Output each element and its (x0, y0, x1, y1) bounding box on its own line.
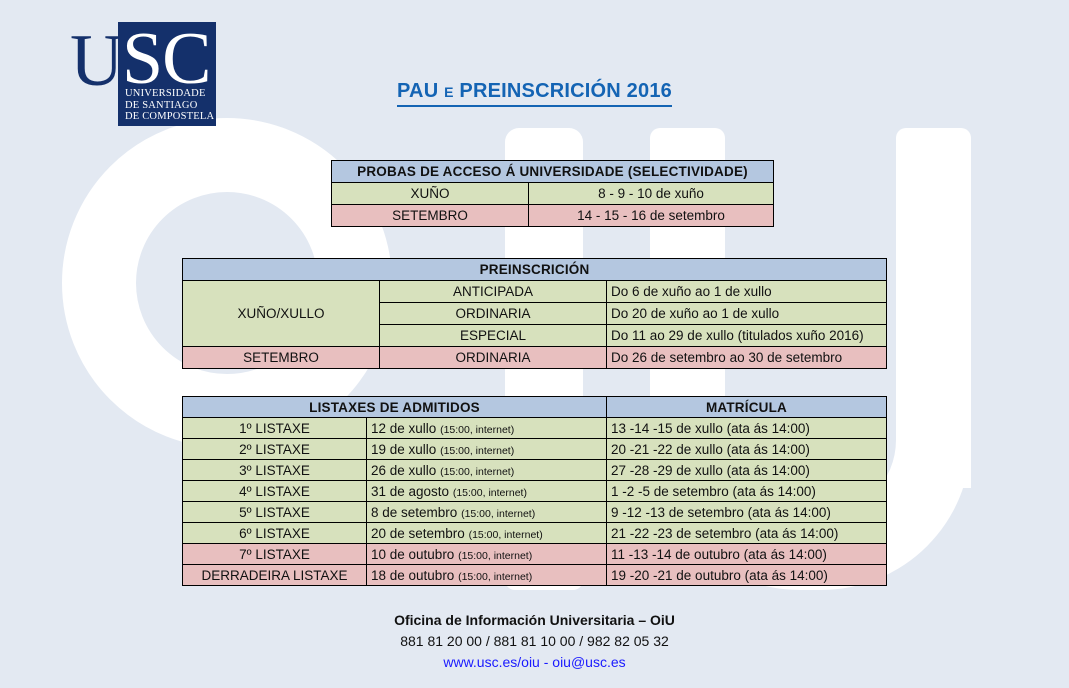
table3-row-6-note: (15:00, internet) (458, 550, 532, 562)
table3-row-6-date-cell: 10 de outubro (15:00, internet) (367, 544, 607, 565)
table3-row-6-date: 10 de outubro (371, 547, 454, 562)
table3-row-7-date-cell: 18 de outubro (15:00, internet) (367, 565, 607, 586)
table2-row-1-type: ORDINARIA (380, 303, 607, 325)
table3-row-2-name: 3º LISTAXE (183, 460, 367, 481)
table3-row-6-matricula: 11 -13 -14 de outubro (ata ás 14:00) (607, 544, 887, 565)
table1-row-1-label: SETEMBRO (332, 205, 529, 227)
table3-row-1-date: 19 de xullo (371, 442, 436, 457)
table3-row-2-matricula: 27 -28 -29 de xullo (ata ás 14:00) (607, 460, 887, 481)
table3-row-4-note: (15:00, internet) (461, 508, 535, 520)
page-title: PAU E PREINSCRICIÓN 2016 (0, 80, 1069, 103)
table1-row-0-value: 8 - 9 - 10 de xuño (529, 183, 774, 205)
footer-phone-numbers: 881 81 20 00 / 881 81 10 00 / 982 82 05 … (0, 633, 1069, 649)
table3-row-3-date: 31 de agosto (371, 484, 449, 499)
table3-row-0-matricula: 13 -14 -15 de xullo (ata ás 14:00) (607, 418, 887, 439)
table-listaxes-matricula: LISTAXES DE ADMITIDOS MATRÍCULA 1º LISTA… (182, 396, 887, 586)
table3-row-0-date: 12 de xullo (371, 421, 436, 436)
table-row: SETEMBRO 14 - 15 - 16 de setembro (332, 205, 774, 227)
table2-group-setembro: SETEMBRO (183, 347, 380, 369)
table2-row-1-dates: Do 20 de xuño ao 1 de xullo (607, 303, 887, 325)
page-title-pau: PAU (397, 80, 438, 107)
table3-header-matricula: MATRÍCULA (607, 397, 887, 418)
table-row: DERRADEIRA LISTAXE 18 de outubro (15:00,… (183, 565, 887, 586)
table3-row-0-name: 1º LISTAXE (183, 418, 367, 439)
usc-logo: U SC UNIVERSIDADE DE SANTIAGO DE COMPOST… (70, 22, 216, 126)
table-row: 1º LISTAXE 12 de xullo (15:00, internet)… (183, 418, 887, 439)
logo-subtitle-line-3: DE COMPOSTELA (125, 111, 214, 123)
page-title-conjunction: E (444, 84, 454, 100)
table3-row-2-date-cell: 26 de xullo (15:00, internet) (367, 460, 607, 481)
table2-header: PREINSCRICIÓN (183, 259, 887, 281)
table-row: XUÑO/XULLO ANTICIPADA Do 6 de xuño ao 1 … (183, 281, 887, 303)
table3-row-3-date-cell: 31 de agosto (15:00, internet) (367, 481, 607, 502)
table2-row-0-dates: Do 6 de xuño ao 1 de xullo (607, 281, 887, 303)
table3-row-7-note: (15:00, internet) (458, 571, 532, 583)
table2-row-2-type: ESPECIAL (380, 325, 607, 347)
table3-row-3-name: 4º LISTAXE (183, 481, 367, 502)
table2-row-3-type: ORDINARIA (380, 347, 607, 369)
table3-row-1-matricula: 20 -21 -22 de xullo (ata ás 14:00) (607, 439, 887, 460)
table3-row-2-date: 26 de xullo (371, 463, 436, 478)
table3-row-2-note: (15:00, internet) (440, 466, 514, 478)
table2-row-0-type: ANTICIPADA (380, 281, 607, 303)
table3-row-4-matricula: 9 -12 -13 de setembro (ata ás 14:00) (607, 502, 887, 523)
table3-row-5-date-cell: 20 de setembro (15:00, internet) (367, 523, 607, 544)
page-title-rest: PREINSCRICIÓN 2016 (459, 80, 672, 107)
table-probas-de-acceso: PROBAS DE ACCESO Á UNIVERSIDADE (SELECTI… (331, 160, 774, 227)
table3-row-0-date-cell: 12 de xullo (15:00, internet) (367, 418, 607, 439)
table-row-header: LISTAXES DE ADMITIDOS MATRÍCULA (183, 397, 887, 418)
table3-row-7-matricula: 19 -20 -21 de outubro (ata ás 14:00) (607, 565, 887, 586)
table-row: XUÑO 8 - 9 - 10 de xuño (332, 183, 774, 205)
table-row: 6º LISTAXE 20 de setembro (15:00, intern… (183, 523, 887, 544)
table-row: 3º LISTAXE 26 de xullo (15:00, internet)… (183, 460, 887, 481)
table-row-header: PREINSCRICIÓN (183, 259, 887, 281)
table-row: 5º LISTAXE 8 de setembro (15:00, interne… (183, 502, 887, 523)
table1-header: PROBAS DE ACCESO Á UNIVERSIDADE (SELECTI… (332, 161, 774, 183)
table3-row-4-name: 5º LISTAXE (183, 502, 367, 523)
table-row: 2º LISTAXE 19 de xullo (15:00, internet)… (183, 439, 887, 460)
table3-row-1-note: (15:00, internet) (440, 445, 514, 457)
table1-row-1-value: 14 - 15 - 16 de setembro (529, 205, 774, 227)
table-row: SETEMBRO ORDINARIA Do 26 de setembro ao … (183, 347, 887, 369)
table3-row-4-date-cell: 8 de setembro (15:00, internet) (367, 502, 607, 523)
table3-row-5-note: (15:00, internet) (469, 529, 543, 541)
table-preinscricion: PREINSCRICIÓN XUÑO/XULLO ANTICIPADA Do 6… (182, 258, 887, 369)
footer-office-name: Oficina de Información Universitaria – O… (0, 612, 1069, 628)
table3-row-3-note: (15:00, internet) (453, 487, 527, 499)
table2-row-3-dates: Do 26 de setembro ao 30 de setembro (607, 347, 887, 369)
table2-group-xuno-xullo: XUÑO/XULLO (183, 281, 380, 347)
table-row: 4º LISTAXE 31 de agosto (15:00, internet… (183, 481, 887, 502)
table3-row-0-note: (15:00, internet) (440, 424, 514, 436)
table2-row-2-dates: Do 11 ao 29 de xullo (titulados xuño 201… (607, 325, 887, 347)
table3-row-7-date: 18 de outubro (371, 568, 454, 583)
table3-row-6-name: 7º LISTAXE (183, 544, 367, 565)
table3-row-3-matricula: 1 -2 -5 de setembro (ata ás 14:00) (607, 481, 887, 502)
table3-row-5-date: 20 de setembro (371, 526, 465, 541)
footer: Oficina de Información Universitaria – O… (0, 612, 1069, 670)
table3-row-5-matricula: 21 -22 -23 de setembro (ata ás 14:00) (607, 523, 887, 544)
watermark-letter-u-right-stem (896, 128, 971, 488)
footer-web-and-email[interactable]: www.usc.es/oiu - oiu@usc.es (0, 654, 1069, 670)
page-title-text: PAU E PREINSCRICIÓN 2016 (397, 80, 672, 107)
table3-header-listaxes: LISTAXES DE ADMITIDOS (183, 397, 607, 418)
table3-row-1-date-cell: 19 de xullo (15:00, internet) (367, 439, 607, 460)
table1-row-0-label: XUÑO (332, 183, 529, 205)
table3-row-7-name: DERRADEIRA LISTAXE (183, 565, 367, 586)
table3-row-4-date: 8 de setembro (371, 505, 457, 520)
table-row-header: PROBAS DE ACCESO Á UNIVERSIDADE (SELECTI… (332, 161, 774, 183)
logo-navy-box: SC UNIVERSIDADE DE SANTIAGO DE COMPOSTEL… (118, 22, 216, 126)
table3-row-1-name: 2º LISTAXE (183, 439, 367, 460)
table-row: 7º LISTAXE 10 de outubro (15:00, interne… (183, 544, 887, 565)
table3-row-5-name: 6º LISTAXE (183, 523, 367, 544)
